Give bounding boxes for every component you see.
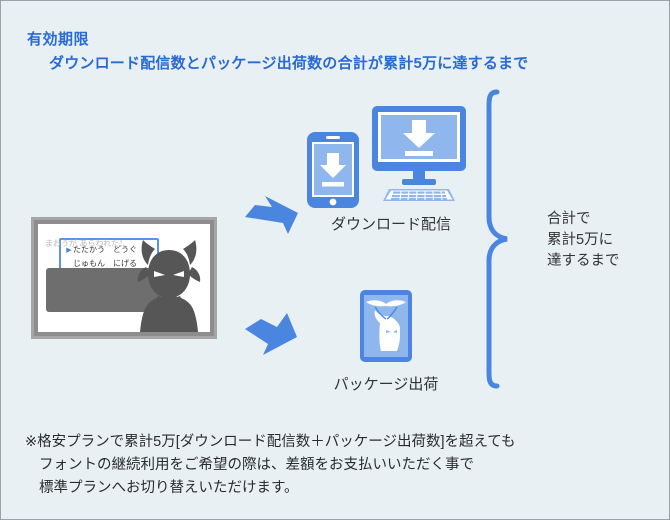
- desktop-download-icon: [369, 105, 469, 201]
- brace-note-line-1: 合計で: [547, 209, 620, 230]
- footnote-line-2: フォントの継続利用をご希望の際は、差額をお支払いいただく事で: [25, 454, 516, 477]
- brace-note-line-2: 累計5万に: [547, 230, 620, 251]
- download-icon-group: [301, 105, 469, 209]
- curly-brace-icon: [485, 89, 531, 389]
- footnote-line-1: ※格安プランで累計5万[ダウンロード配信数＋パッケージ出荷数]を超えても: [25, 431, 516, 454]
- demon-silhouette-icon: [130, 232, 208, 332]
- package-branch-label: パッケージ出荷: [296, 373, 476, 394]
- brace-note-line-3: 達するまで: [547, 251, 620, 272]
- arrow-down-right-icon: [239, 307, 311, 361]
- footnote: ※格安プランで累計5万[ダウンロード配信数＋パッケージ出荷数]を超えても フォン…: [25, 431, 516, 500]
- game-screen-inner: ▶ たたかう どうぐ じゅもん にげる まおうが あらわれた！: [38, 224, 210, 332]
- brace-note: 合計で 累計5万に 達するまで: [547, 209, 620, 272]
- smartphone-download-icon: [306, 131, 360, 209]
- page-subtitle: ダウンロード配信数とパッケージ出荷数の合計が累計5万に達するまで: [49, 52, 528, 73]
- package-box-icon: [359, 289, 413, 363]
- message-text: まおうが あらわれた！: [45, 238, 127, 249]
- page-title: 有効期限: [27, 28, 89, 49]
- download-branch-label: ダウンロード配信: [301, 213, 481, 234]
- slide-container: 有効期限 ダウンロード配信数とパッケージ出荷数の合計が累計5万に達するまで ▶ …: [0, 0, 670, 520]
- footnote-line-3: 標準プランへお切り替えいただけます。: [25, 477, 516, 500]
- game-screen-mockup: ▶ たたかう どうぐ じゅもん にげる まおうが あらわれた！: [31, 217, 217, 339]
